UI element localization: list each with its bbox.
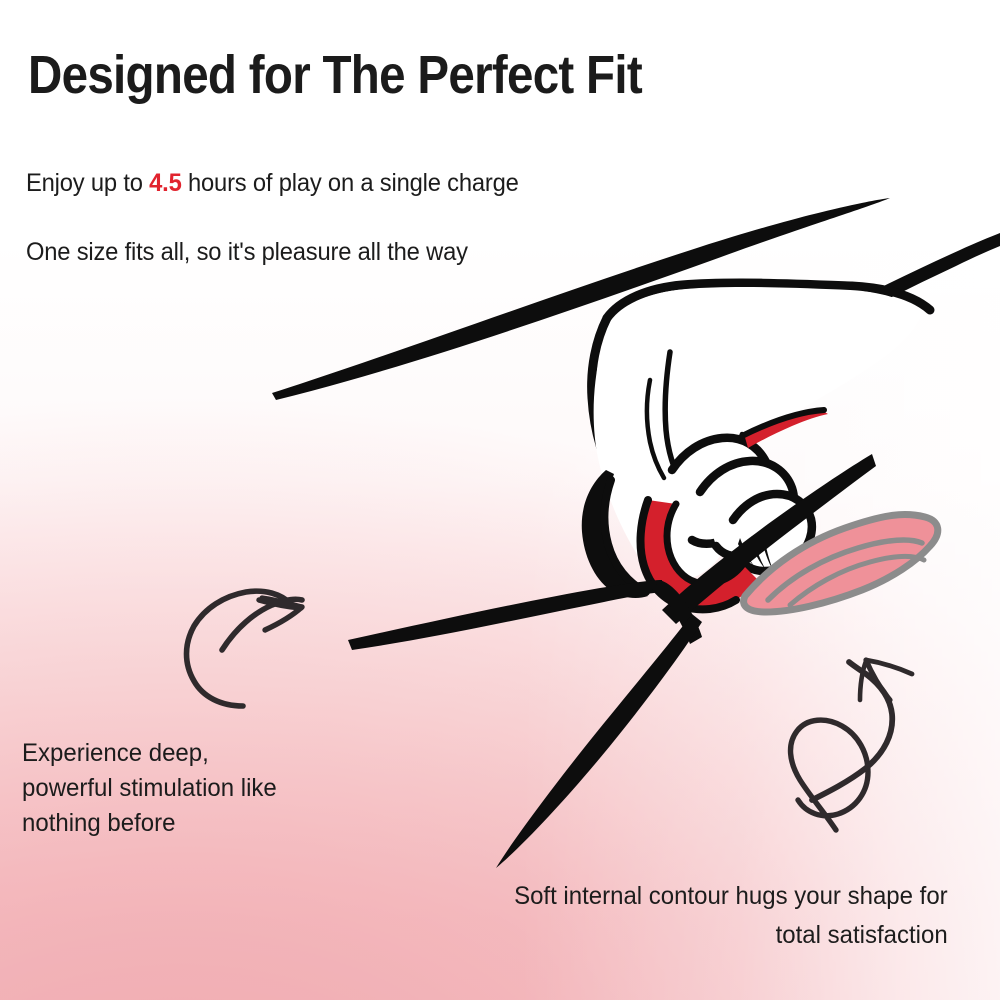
callout-left-line-2: powerful stimulation like	[22, 771, 277, 806]
battery-hours-highlight: 4.5	[149, 169, 181, 197]
feature-line-battery: Enjoy up to 4.5 hours of play on a singl…	[26, 167, 519, 199]
callout-left-line-3: nothing before	[22, 806, 277, 841]
page-title: Designed for The Perfect Fit	[28, 44, 642, 106]
battery-suffix: hours of play on a single charge	[182, 169, 519, 197]
callout-right: Soft internal contour hugs your shape fo…	[514, 877, 948, 955]
feature-line-size: One size fits all, so it's pleasure all …	[26, 236, 468, 268]
battery-prefix: Enjoy up to	[26, 169, 149, 197]
promo-graphic: Designed for The Perfect Fit Enjoy up to…	[0, 0, 1000, 1000]
callout-left-line-1: Experience deep,	[22, 736, 277, 771]
background-right-fade	[0, 0, 1000, 1000]
callout-right-line-1: Soft internal contour hugs your shape fo…	[514, 877, 948, 916]
callout-left: Experience deep, powerful stimulation li…	[22, 736, 277, 841]
callout-right-line-2: total satisfaction	[514, 916, 948, 955]
